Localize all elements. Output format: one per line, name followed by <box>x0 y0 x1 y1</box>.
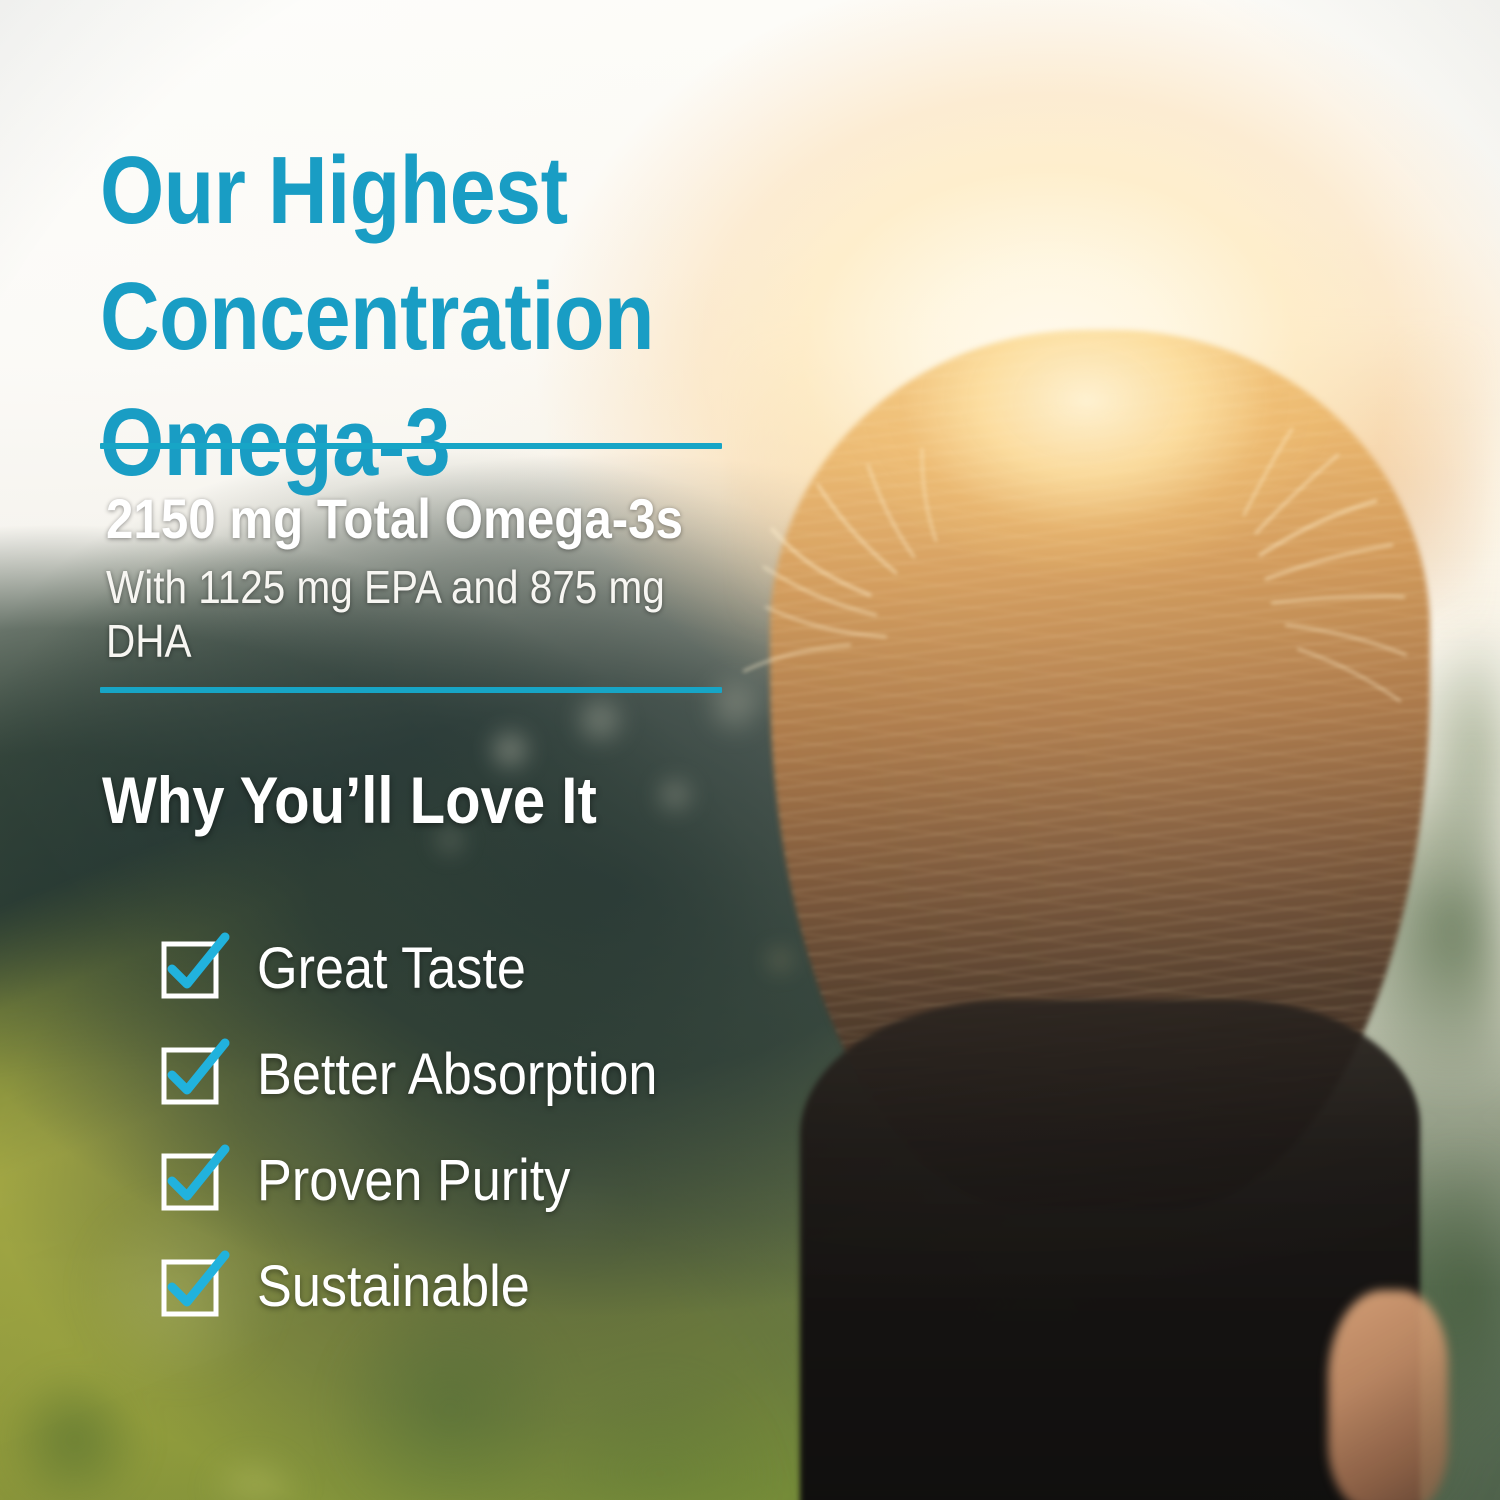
list-item: Better Absorption <box>163 1022 702 1128</box>
divider-bottom <box>100 687 722 693</box>
list-item: Sustainable <box>163 1234 702 1340</box>
checkbox-checked-icon <box>163 1155 215 1207</box>
list-item: Proven Purity <box>163 1128 702 1234</box>
benefit-label: Sustainable <box>257 1256 530 1318</box>
checkbox-checked-icon <box>163 1261 215 1313</box>
list-item: Great Taste <box>163 916 702 1022</box>
benefit-label: Better Absorption <box>257 1044 657 1106</box>
checkbox-checked-icon <box>163 1049 215 1101</box>
benefit-label: Great Taste <box>257 938 526 1000</box>
benefit-label: Proven Purity <box>257 1150 570 1212</box>
dosage-block: 2150 mg Total Omega-3s With 1125 mg EPA … <box>106 486 722 668</box>
dosage-epa-dha: With 1125 mg EPA and 875 mg DHA <box>106 560 722 668</box>
checkbox-checked-icon <box>163 943 215 995</box>
benefits-heading: Why You’ll Love It <box>102 762 597 838</box>
poster-content: Our Highest Concentration Omega-3 2150 m… <box>0 0 1500 1500</box>
product-benefits-poster: Our Highest Concentration Omega-3 2150 m… <box>0 0 1500 1500</box>
dosage-total-omega3: 2150 mg Total Omega-3s <box>106 486 722 552</box>
divider-top <box>100 443 722 449</box>
page-title: Our Highest Concentration Omega-3 <box>100 128 1012 506</box>
benefits-list: Great Taste Better Absorption <box>163 916 702 1340</box>
